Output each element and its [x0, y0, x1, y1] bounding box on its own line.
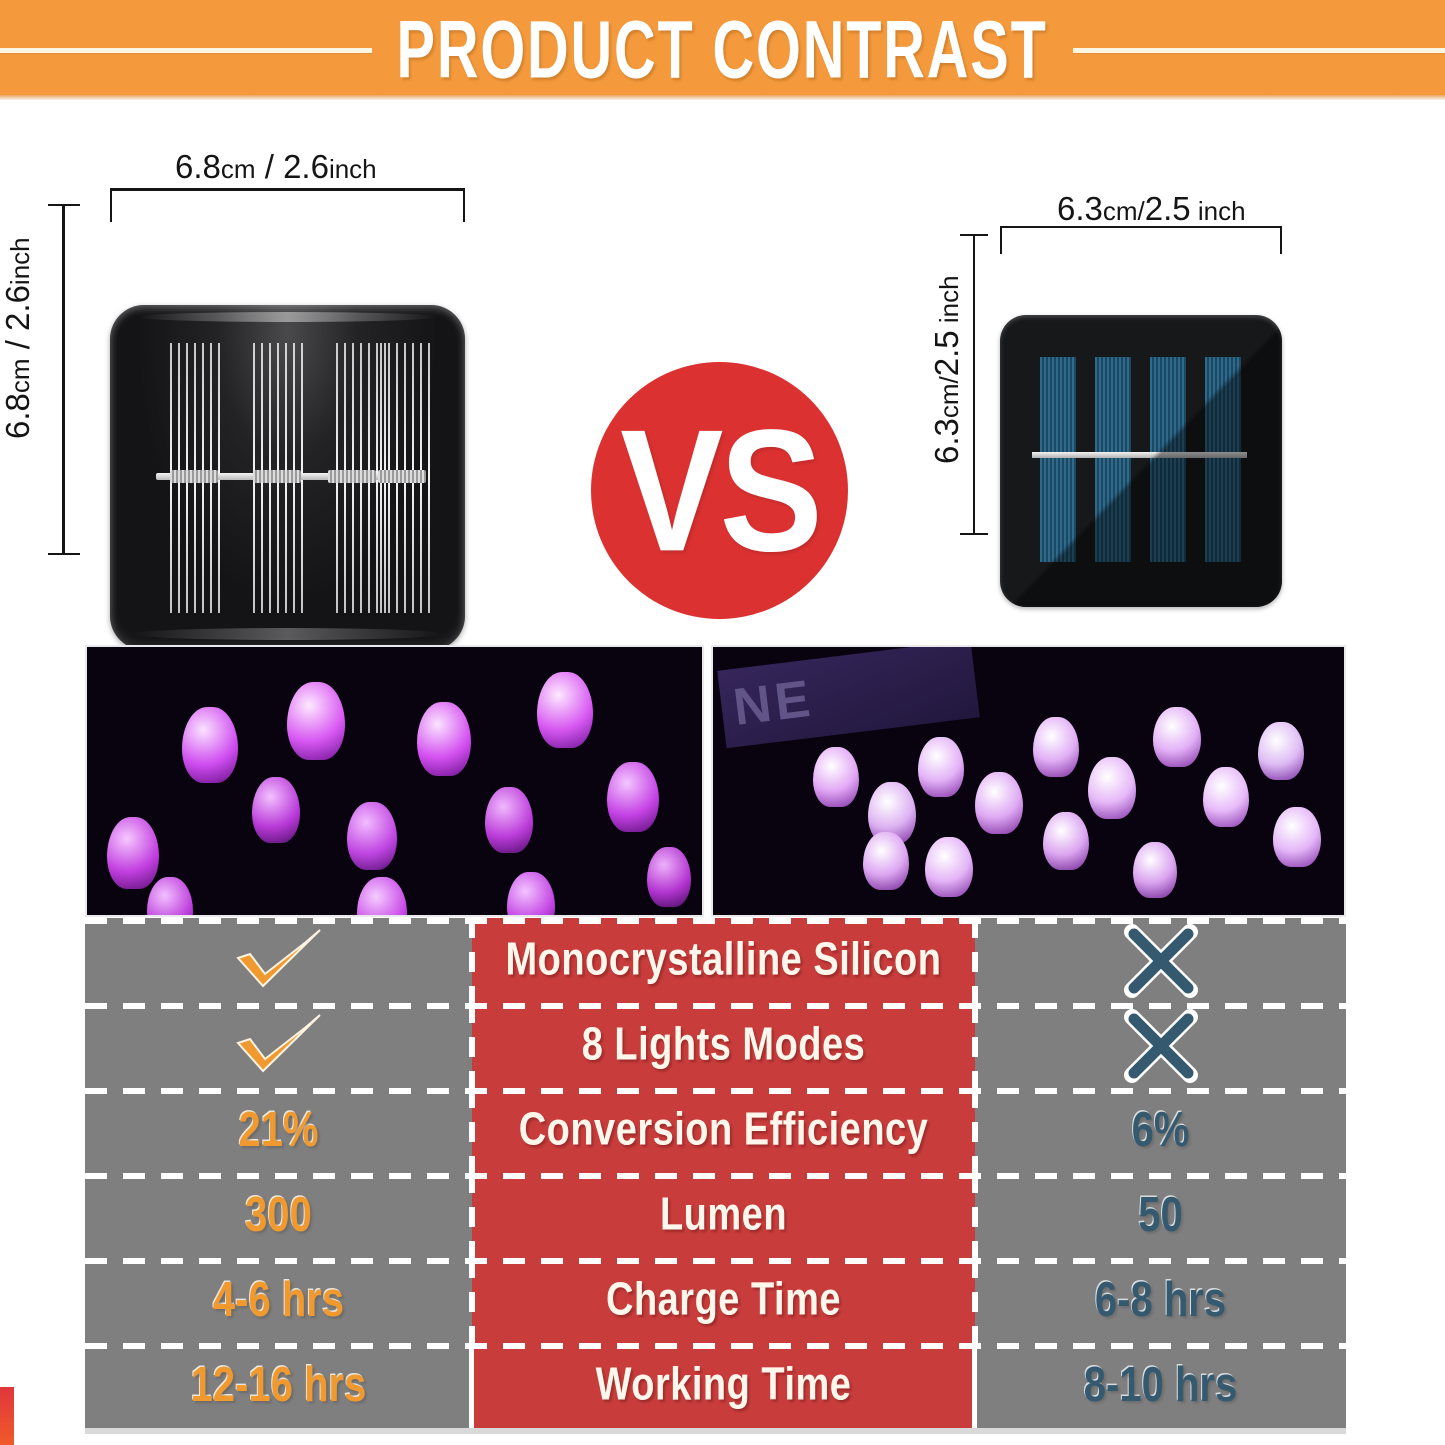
others-cell-strip-2	[1095, 357, 1131, 562]
others-cell: 8-10 hrs	[975, 1343, 1346, 1428]
feature-label: Lumen	[660, 1189, 787, 1241]
header-rule-right	[1073, 48, 1445, 53]
feature-label: Working Time	[596, 1359, 852, 1411]
column-separator-right	[972, 1173, 978, 1258]
others-value: 8-10 hrs	[1084, 1358, 1237, 1413]
check-icon	[232, 928, 326, 994]
ours-width-separator: /	[256, 148, 284, 185]
ours-solar-panel-image	[110, 305, 465, 650]
ours-led-photo	[85, 645, 704, 917]
others-width-cm-value: 6.3	[1057, 190, 1103, 227]
others-width-cm-unit: cm/	[1103, 196, 1145, 226]
comparison-table: Monocrystalline Silicon 8 Lights Modes	[85, 918, 1346, 1428]
feature-cell: 8 Lights Modes	[472, 1003, 975, 1088]
ours-panel-gloss-top	[138, 312, 436, 322]
vs-badge: VS	[591, 362, 848, 619]
others-height-cm-unit: cm/	[934, 376, 964, 418]
header-banner: PRODUCT CONTRAST	[0, 0, 1445, 100]
column-separator-right-solid	[972, 1343, 977, 1428]
column-separator-right	[972, 918, 978, 1003]
ours-panel-gloss-bottom	[131, 628, 443, 640]
feature-label: 8 Lights Modes	[582, 1019, 866, 1071]
ours-busbar-node-3	[328, 470, 376, 483]
column-separator-left-solid	[469, 1343, 474, 1428]
ours-width-cm-unit: cm	[221, 154, 256, 184]
ours-width-inch-value: 2.6	[283, 148, 329, 185]
others-height-inch-unit: inch	[934, 275, 964, 330]
others-cell: 6-8 hrs	[975, 1258, 1346, 1343]
ours-width-tick-right	[463, 190, 465, 222]
feature-cell: Working Time	[472, 1343, 975, 1428]
ours-value: 300	[245, 1188, 312, 1243]
row-separator	[85, 1173, 1346, 1179]
ours-value: 4-6 hrs	[213, 1273, 344, 1328]
column-separator-left	[469, 1088, 475, 1173]
table-row: Monocrystalline Silicon	[85, 918, 1346, 1003]
header-banner-content: PRODUCT CONTRAST	[0, 0, 1445, 100]
others-width-inch-unit: inch	[1191, 196, 1246, 226]
others-cell	[975, 918, 1346, 1003]
ours-cell	[85, 1003, 472, 1088]
others-height-line	[973, 235, 975, 535]
feature-cell: Monocrystalline Silicon	[472, 918, 975, 1003]
x-icon	[1124, 924, 1198, 998]
feature-cell: Conversion Efficiency	[472, 1088, 975, 1173]
others-height-inch-value: 2.5	[928, 330, 965, 376]
table-row: 12-16 hrs Working Time 8-10 hrs	[85, 1343, 1346, 1428]
column-separator-right	[972, 1258, 978, 1343]
others-width-line	[1000, 226, 1282, 228]
others-value: 6%	[1132, 1103, 1190, 1158]
column-separator-right	[972, 1003, 978, 1088]
page-title: PRODUCT CONTRAST	[391, 3, 1053, 97]
header-rule-left	[0, 48, 372, 53]
ours-width-dimension-label: 6.8cm / 2.6inch	[175, 148, 377, 186]
row-separator	[85, 918, 1346, 924]
others-cell-strip-1	[1040, 357, 1076, 562]
feature-cell: Lumen	[472, 1173, 975, 1258]
ours-height-line	[62, 205, 65, 555]
ours-width-cm-value: 6.8	[175, 148, 221, 185]
column-separator-left	[469, 918, 475, 1003]
column-separator-right	[972, 1088, 978, 1173]
check-icon	[232, 1013, 326, 1079]
others-led-photo: NE	[711, 645, 1346, 917]
ours-height-tick-top	[48, 204, 80, 206]
ours-width-line	[110, 188, 465, 191]
column-separator-left	[469, 1173, 475, 1258]
table-bottom-edge	[85, 1428, 1346, 1434]
ours-height-inch-value: 2.6	[0, 285, 36, 331]
row-separator	[85, 1003, 1346, 1009]
corner-accent-mark	[0, 1387, 14, 1445]
others-height-dimension-label: 6.3cm/2.5 inch	[928, 275, 966, 464]
row-separator	[85, 1343, 1346, 1349]
ours-busbar-node-4	[378, 470, 426, 483]
table-row: 300 Lumen 50	[85, 1173, 1346, 1258]
ours-height-inch-unit: inch	[5, 237, 35, 285]
others-height-tick-bottom	[960, 533, 988, 535]
ours-cell: 21%	[85, 1088, 472, 1173]
row-separator	[85, 1258, 1346, 1264]
others-cell: 6%	[975, 1088, 1346, 1173]
others-width-tick-left	[1000, 228, 1002, 254]
others-width-tick-right	[1280, 228, 1282, 254]
table-row: 4-6 hrs Charge Time 6-8 hrs	[85, 1258, 1346, 1343]
ours-value: 12-16 hrs	[191, 1358, 367, 1413]
feature-label: Charge Time	[606, 1274, 841, 1326]
column-separator-left	[469, 1258, 475, 1343]
ours-busbar-node-1	[170, 470, 218, 483]
ours-cell: 300	[85, 1173, 472, 1258]
ours-height-cm-value: 6.8	[0, 393, 36, 439]
others-value: 6-8 hrs	[1095, 1273, 1226, 1328]
others-height-tick-top	[960, 234, 988, 236]
feature-cell: Charge Time	[472, 1258, 975, 1343]
ours-cell: 12-16 hrs	[85, 1343, 472, 1428]
ours-value: 21%	[238, 1103, 318, 1158]
ours-width-inch-unit: inch	[329, 154, 377, 184]
ours-width-tick-left	[110, 190, 112, 222]
others-cell: 50	[975, 1173, 1346, 1258]
x-icon	[1124, 1009, 1198, 1083]
column-separator-left	[469, 1003, 475, 1088]
ours-height-dimension-label: 6.8cm / 2.6inch	[0, 237, 37, 439]
others-height-cm-value: 6.3	[928, 418, 965, 464]
others-cell-strip-4	[1205, 357, 1241, 562]
ours-cell: 4-6 hrs	[85, 1258, 472, 1343]
table-row: 8 Lights Modes	[85, 1003, 1346, 1088]
background-sign-text: NE	[717, 645, 980, 748]
photo-strip: NE	[85, 645, 1346, 917]
ours-height-cm-unit: cm	[5, 358, 35, 393]
others-value: 50	[1138, 1188, 1183, 1243]
ours-height-tick-bottom	[48, 553, 80, 555]
others-cell	[975, 1003, 1346, 1088]
ours-panel: 6.8cm / 2.6inch 6.8cm / 2.6inch	[0, 100, 560, 645]
feature-label: Monocrystalline Silicon	[506, 934, 942, 986]
table-row: 21% Conversion Efficiency 6%	[85, 1088, 1346, 1173]
ours-cell	[85, 918, 472, 1003]
others-busbar	[1032, 452, 1247, 458]
others-width-dimension-label: 6.3cm/2.5 inch	[1057, 190, 1246, 228]
comparison-section: 6.8cm / 2.6inch 6.8cm / 2.6inch	[0, 100, 1445, 645]
row-separator	[85, 1088, 1346, 1094]
others-width-inch-value: 2.5	[1145, 190, 1191, 227]
vs-label: VS	[620, 391, 819, 590]
ours-height-separator: /	[0, 331, 36, 359]
others-cell-strip-3	[1150, 357, 1186, 562]
ours-busbar-node-2	[253, 470, 301, 483]
feature-label: Conversion Efficiency	[519, 1104, 929, 1156]
others-solar-panel-image	[1000, 315, 1282, 607]
